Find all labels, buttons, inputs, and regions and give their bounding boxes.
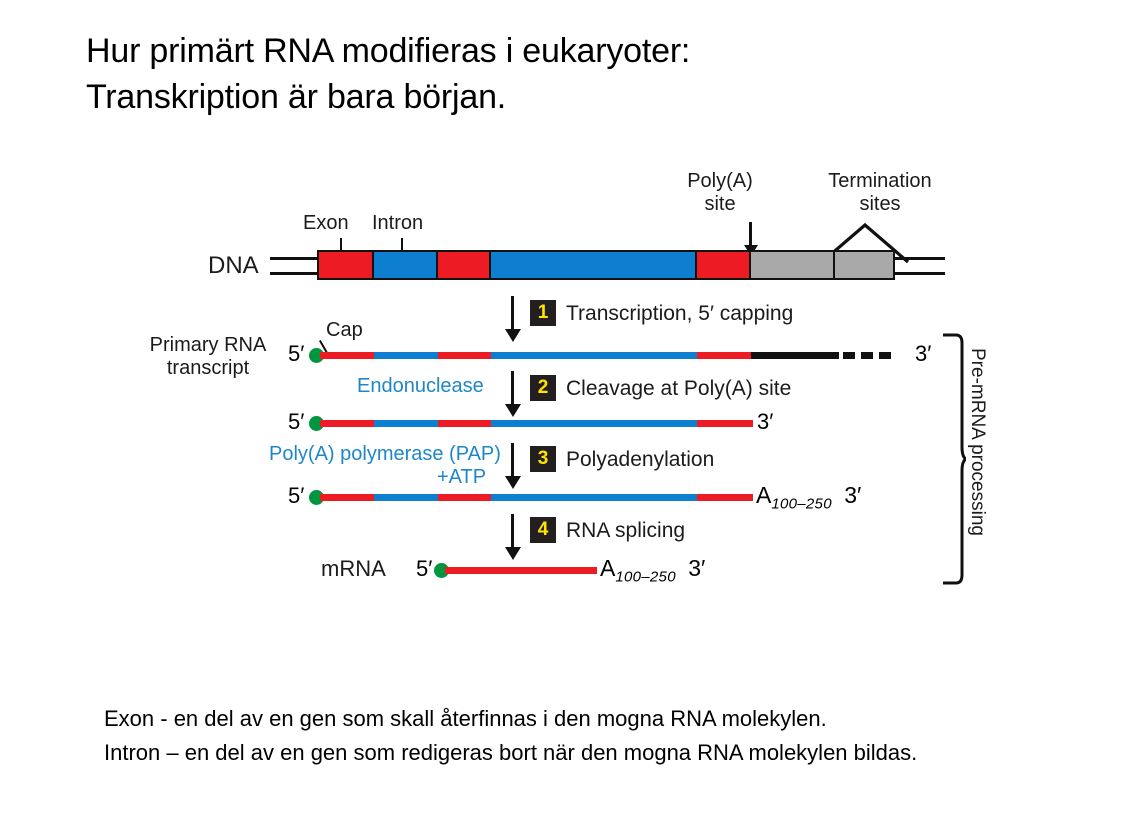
step-3-arrowhead xyxy=(505,476,521,489)
page-title: Hur primärt RNA modifieras i eukaryoter:… xyxy=(86,28,986,120)
step-3-arrow xyxy=(511,443,514,479)
step-4-badge: 4 xyxy=(530,517,556,543)
step-1-arrowhead xyxy=(505,329,521,342)
transcript-1-intron-2 xyxy=(491,352,699,359)
caption-line-1: Exon - en del av en gen som skall återfi… xyxy=(104,702,1084,736)
transcript-1-downstream xyxy=(751,352,839,359)
transcript-2-exon-3 xyxy=(697,420,753,427)
polya-site-label: Poly(A) site xyxy=(640,170,800,216)
polya-site-line-1: Poly(A) xyxy=(640,170,800,193)
dna-strand-right-top xyxy=(893,257,945,260)
pre-mrna-processing-label: Pre-mRNA processing xyxy=(966,348,988,536)
transcript-2-five-prime: 5′ xyxy=(288,409,304,435)
transcript-1-five-prime: 5′ xyxy=(288,341,304,367)
transcript-3-exon-2 xyxy=(438,494,493,501)
step-4-text: RNA splicing xyxy=(566,519,685,543)
transcript-2-three-prime: 3′ xyxy=(757,409,773,435)
transcript-3-exon-1 xyxy=(320,494,376,501)
primary-rna-line-1: Primary RNA xyxy=(130,334,286,357)
step-1-text: Transcription, 5′ capping xyxy=(566,302,793,326)
transcript-1-intron-1 xyxy=(374,352,440,359)
polya-sub-mrna: 100–250 xyxy=(615,569,676,586)
transcript-3-three-prime: 3′ xyxy=(844,482,861,508)
title-line-1: Hur primärt RNA modifieras i eukaryoter: xyxy=(86,28,986,74)
mrna-polya-tail: A100–250 3′ xyxy=(600,555,705,586)
gene-intron-2 xyxy=(489,250,697,280)
mrna-three-prime: 3′ xyxy=(688,555,705,581)
step-2-text: Cleavage at Poly(A) site xyxy=(566,377,791,401)
transcript-2-intron-2 xyxy=(491,420,699,427)
step-2-arrowhead xyxy=(505,404,521,417)
transcript-1-dashed-tail xyxy=(843,352,913,359)
polya-sub-3: 100–250 xyxy=(771,496,832,513)
transcript-2-exon-2 xyxy=(438,420,493,427)
termination-line-2: sites xyxy=(790,193,970,216)
cap-label: Cap xyxy=(326,319,363,342)
mrna-five-prime: 5′ xyxy=(416,556,432,582)
step-2-badge: 2 xyxy=(530,375,556,401)
step-2-arrow xyxy=(511,371,514,407)
mrna-label: mRNA xyxy=(321,556,386,582)
transcript-1-exon-2 xyxy=(438,352,493,359)
slide-canvas: Hur primärt RNA modifieras i eukaryoter:… xyxy=(0,0,1140,824)
transcript-2-exon-1 xyxy=(320,420,376,427)
intron-label: Intron xyxy=(372,212,423,235)
transcript-3-polya-tail: A100–250 3′ xyxy=(756,482,861,513)
dna-strand-left-bottom xyxy=(270,272,320,275)
pap-label: Poly(A) polymerase (PAP) xyxy=(269,443,501,466)
title-line-2: Transkription är bara början. xyxy=(86,74,986,120)
step-4-arrow xyxy=(511,514,514,550)
caption-line-2: Intron – en del av en gen som redigeras … xyxy=(104,736,1084,770)
atp-label: +ATP xyxy=(437,466,486,489)
endonuclease-label: Endonuclease xyxy=(357,375,484,398)
gene-downstream-1 xyxy=(749,250,835,280)
step-1-arrow xyxy=(511,296,514,332)
step-4-arrowhead xyxy=(505,547,521,560)
gene-exon-2 xyxy=(436,250,491,280)
transcript-1-three-prime: 3′ xyxy=(915,341,931,367)
mrna-coding-body xyxy=(445,567,597,574)
primary-rna-line-2: transcript xyxy=(130,357,286,380)
dna-strand-right-bottom xyxy=(893,272,945,275)
gene-downstream-2 xyxy=(833,250,895,280)
gene-exon-1 xyxy=(317,250,374,280)
transcript-3-intron-1 xyxy=(374,494,440,501)
termination-sites-label: Termination sites xyxy=(790,170,970,216)
primary-rna-label: Primary RNA transcript xyxy=(130,334,286,380)
polya-base-mrna: A xyxy=(600,555,615,581)
polya-base-3: A xyxy=(756,482,771,508)
definitions-caption: Exon - en del av en gen som skall återfi… xyxy=(104,702,1084,770)
exon-label: Exon xyxy=(303,212,349,235)
transcript-2-intron-1 xyxy=(374,420,440,427)
gene-intron-1 xyxy=(372,250,438,280)
transcript-1-exon-1 xyxy=(320,352,376,359)
transcript-3-intron-2 xyxy=(491,494,699,501)
step-1-badge: 1 xyxy=(530,300,556,326)
termination-line-1: Termination xyxy=(790,170,970,193)
polya-site-line-2: site xyxy=(640,193,800,216)
step-3-text: Polyadenylation xyxy=(566,448,714,472)
step-3-badge: 3 xyxy=(530,446,556,472)
dna-label: DNA xyxy=(208,252,259,280)
transcript-3-five-prime: 5′ xyxy=(288,483,304,509)
transcript-3-exon-3 xyxy=(697,494,753,501)
pre-mrna-brace xyxy=(940,333,966,590)
transcript-1-exon-3 xyxy=(697,352,753,359)
gene-exon-3 xyxy=(695,250,751,280)
dna-strand-left-top xyxy=(270,257,320,260)
